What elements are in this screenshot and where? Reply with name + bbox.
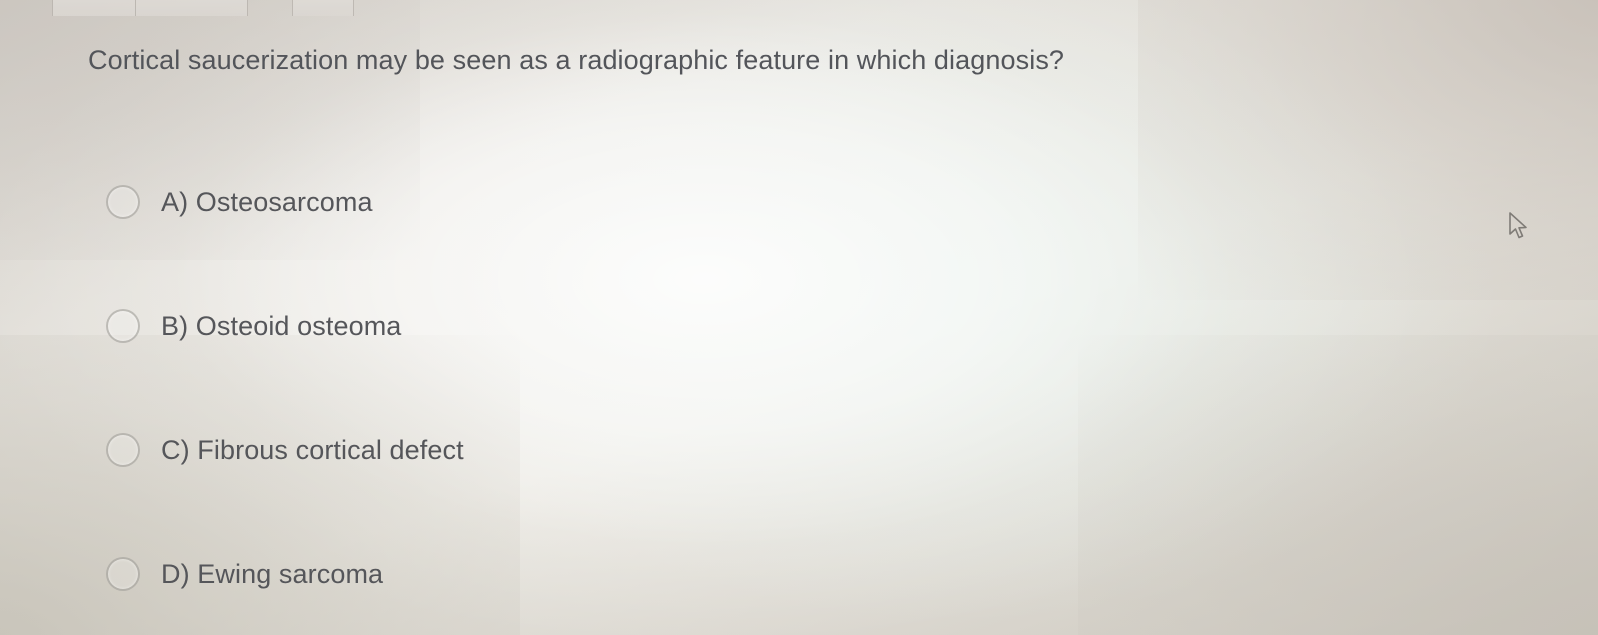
option-a[interactable]: A) Osteosarcoma xyxy=(106,140,1006,264)
play-button[interactable] xyxy=(292,0,354,16)
vignette-bottom-right xyxy=(1078,335,1598,635)
option-a-label: A) Osteosarcoma xyxy=(161,187,373,218)
screen-surface: Cortical saucerization may be seen as a … xyxy=(0,0,1598,635)
option-b[interactable]: B) Osteoid osteoma xyxy=(106,264,1006,388)
radio-button-a[interactable] xyxy=(106,185,140,219)
arrow-pointer-icon xyxy=(1508,212,1530,240)
option-b-label: B) Osteoid osteoma xyxy=(161,311,401,342)
option-c-label: C) Fibrous cortical defect xyxy=(161,435,464,466)
text-button[interactable] xyxy=(136,0,248,16)
option-d-label: D) Ewing sarcoma xyxy=(161,559,383,590)
radio-button-c[interactable] xyxy=(106,433,140,467)
minus-button[interactable] xyxy=(52,0,136,16)
radio-button-d[interactable] xyxy=(106,557,140,591)
option-d[interactable]: D) Ewing sarcoma xyxy=(106,512,1006,635)
options-list: A) Osteosarcoma B) Osteoid osteoma C) Fi… xyxy=(106,140,1006,635)
radio-button-b[interactable] xyxy=(106,309,140,343)
toolbar xyxy=(52,0,354,16)
option-c[interactable]: C) Fibrous cortical defect xyxy=(106,388,1006,512)
question-text: Cortical saucerization may be seen as a … xyxy=(88,44,1418,76)
